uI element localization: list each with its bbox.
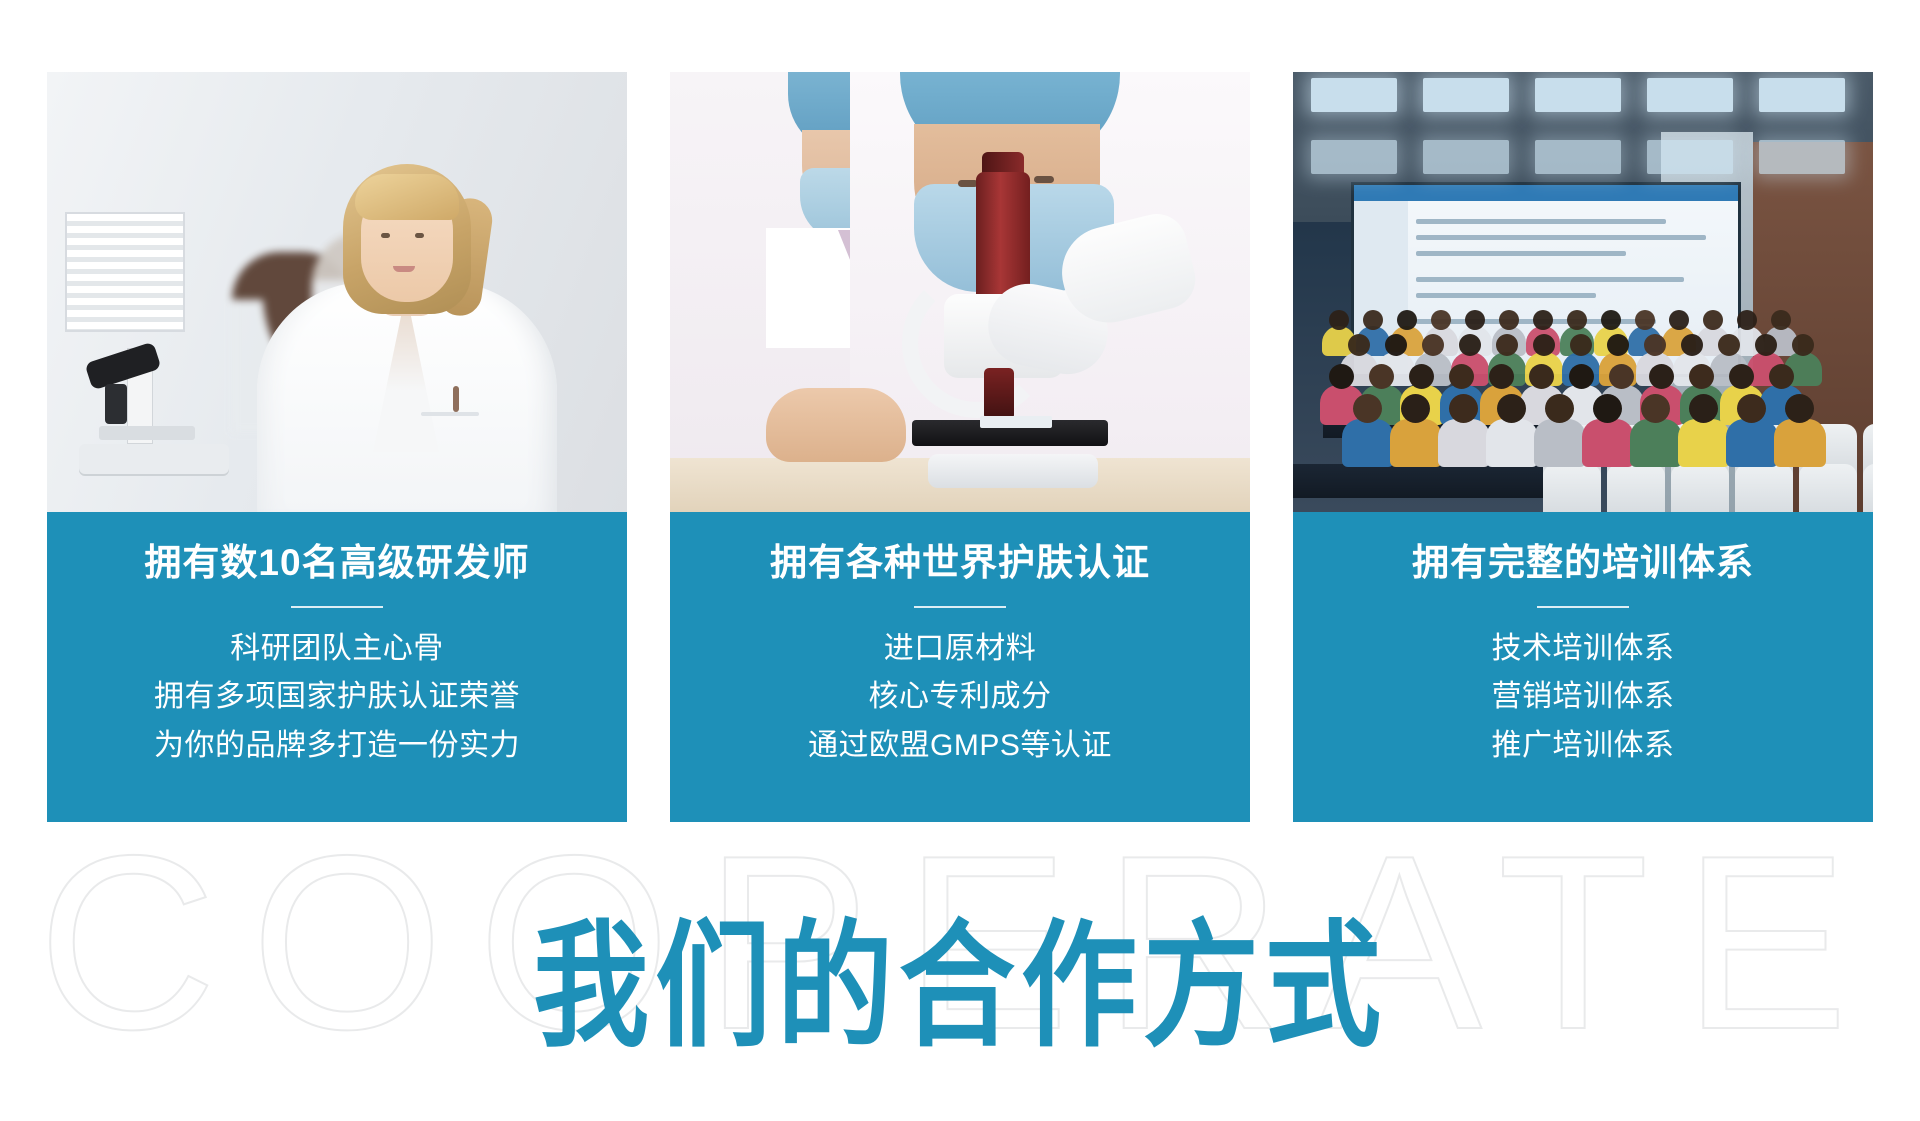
audience-head	[1601, 310, 1621, 330]
audience-head	[1681, 334, 1703, 356]
audience-member	[1342, 419, 1394, 467]
audience-head	[1422, 334, 1444, 356]
audience-head	[1649, 364, 1674, 389]
audience-head	[1385, 334, 1407, 356]
card-lines: 进口原材料 核心专利成分 通过欧盟GMPS等认证	[680, 625, 1240, 771]
audience-member	[1774, 419, 1826, 467]
audience-head	[1459, 334, 1481, 356]
audience-member	[1726, 419, 1778, 467]
card-divider	[1537, 606, 1629, 608]
audience-head	[1570, 334, 1592, 356]
audience-head	[1755, 334, 1777, 356]
audience-member	[1486, 419, 1538, 467]
audience-head	[1353, 394, 1382, 423]
audience-head	[1609, 364, 1634, 389]
audience-head	[1769, 364, 1794, 389]
audience-head	[1737, 310, 1757, 330]
audience-head	[1348, 334, 1370, 356]
card-line: 推广培训体系	[1303, 722, 1863, 771]
audience-head	[1792, 334, 1814, 356]
card-line: 营销培训体系	[1303, 673, 1863, 722]
audience-chair	[1543, 464, 1601, 512]
ceiling-light	[1647, 140, 1733, 174]
audience-chair	[1607, 464, 1665, 512]
audience-head	[1771, 310, 1791, 330]
ceiling-light	[1647, 78, 1733, 112]
section-heading: COOPERATE 我们的合作方式	[0, 826, 1920, 1121]
audience-head	[1689, 364, 1714, 389]
card-body: 拥有各种世界护肤认证 进口原材料 核心专利成分 通过欧盟GMPS等认证	[670, 512, 1250, 822]
audience-member	[1438, 419, 1490, 467]
audience-head	[1718, 334, 1740, 356]
audience-head	[1689, 394, 1718, 423]
audience-head	[1397, 310, 1417, 330]
audience-head	[1363, 310, 1383, 330]
feature-card[interactable]: 拥有完整的培训体系 技术培训体系 营销培训体系 推广培训体系	[1293, 72, 1873, 822]
ceiling-light	[1423, 140, 1509, 174]
audience-head	[1465, 310, 1485, 330]
card-body: 拥有数10名高级研发师 科研团队主心骨 拥有多项国家护肤认证荣誉 为你的品牌多打…	[47, 512, 627, 822]
audience-member	[1582, 419, 1634, 467]
audience-head	[1369, 364, 1394, 389]
audience-chair	[1799, 464, 1857, 512]
section-title: 我们的合作方式	[0, 912, 1920, 1063]
audience-chair	[1735, 464, 1793, 512]
audience-head	[1569, 364, 1594, 389]
audience-head	[1529, 364, 1554, 389]
audience-head	[1607, 334, 1629, 356]
feature-card[interactable]: 拥有各种世界护肤认证 进口原材料 核心专利成分 通过欧盟GMPS等认证	[670, 72, 1250, 822]
audience-head	[1737, 394, 1766, 423]
audience-head	[1401, 394, 1430, 423]
audience-head	[1449, 394, 1478, 423]
audience-head	[1497, 394, 1526, 423]
audience-head	[1644, 334, 1666, 356]
card-divider	[914, 606, 1006, 608]
card-line: 进口原材料	[680, 625, 1240, 674]
card-title: 拥有完整的培训体系	[1303, 542, 1863, 585]
audience-head	[1641, 394, 1670, 423]
audience-head	[1545, 394, 1574, 423]
ceiling-light	[1311, 140, 1397, 174]
audience-head	[1409, 364, 1434, 389]
audience-head	[1489, 364, 1514, 389]
audience-head	[1593, 394, 1622, 423]
ceiling-light	[1423, 78, 1509, 112]
card-title: 拥有数10名高级研发师	[57, 542, 617, 585]
audience-head	[1533, 310, 1553, 330]
card-divider	[291, 606, 383, 608]
card-line: 拥有多项国家护肤认证荣誉	[57, 673, 617, 722]
ceiling-light	[1759, 140, 1845, 174]
audience-head	[1785, 394, 1814, 423]
audience-head	[1496, 334, 1518, 356]
audience-head	[1729, 364, 1754, 389]
audience-chair	[1863, 464, 1873, 512]
card-lines: 科研团队主心骨 拥有多项国家护肤认证荣誉 为你的品牌多打造一份实力	[57, 625, 617, 771]
audience-member	[1630, 419, 1682, 467]
audience-member	[1390, 419, 1442, 467]
audience-member	[1534, 419, 1586, 467]
ceiling-light	[1759, 78, 1845, 112]
feature-card[interactable]: 拥有数10名高级研发师 科研团队主心骨 拥有多项国家护肤认证荣誉 为你的品牌多打…	[47, 72, 627, 822]
ceiling-light	[1535, 140, 1621, 174]
audience-member	[1678, 419, 1730, 467]
card-title: 拥有各种世界护肤认证	[680, 542, 1240, 585]
audience-head	[1449, 364, 1474, 389]
card-photo-scientist	[47, 72, 627, 512]
card-line: 通过欧盟GMPS等认证	[680, 722, 1240, 771]
card-lines: 技术培训体系 营销培训体系 推广培训体系	[1303, 625, 1863, 771]
card-line: 核心专利成分	[680, 673, 1240, 722]
card-photo-microscope	[670, 72, 1250, 512]
audience-head	[1431, 310, 1451, 330]
audience-head	[1329, 310, 1349, 330]
audience-head	[1635, 310, 1655, 330]
audience-head	[1669, 310, 1689, 330]
ceiling-light	[1311, 78, 1397, 112]
ceiling-light	[1535, 78, 1621, 112]
card-body: 拥有完整的培训体系 技术培训体系 营销培训体系 推广培训体系	[1293, 512, 1873, 822]
audience-head	[1499, 310, 1519, 330]
audience-chair	[1671, 464, 1729, 512]
audience-head	[1533, 334, 1555, 356]
audience-head	[1567, 310, 1587, 330]
audience-head	[1329, 364, 1354, 389]
card-line: 为你的品牌多打造一份实力	[57, 722, 617, 771]
card-photo-conference	[1293, 72, 1873, 512]
cooperate-section: 拥有数10名高级研发师 科研团队主心骨 拥有多项国家护肤认证荣誉 为你的品牌多打…	[0, 0, 1920, 1121]
feature-cards-row: 拥有数10名高级研发师 科研团队主心骨 拥有多项国家护肤认证荣誉 为你的品牌多打…	[47, 72, 1873, 822]
card-line: 技术培训体系	[1303, 625, 1863, 674]
audience-head	[1703, 310, 1723, 330]
card-line: 科研团队主心骨	[57, 625, 617, 674]
